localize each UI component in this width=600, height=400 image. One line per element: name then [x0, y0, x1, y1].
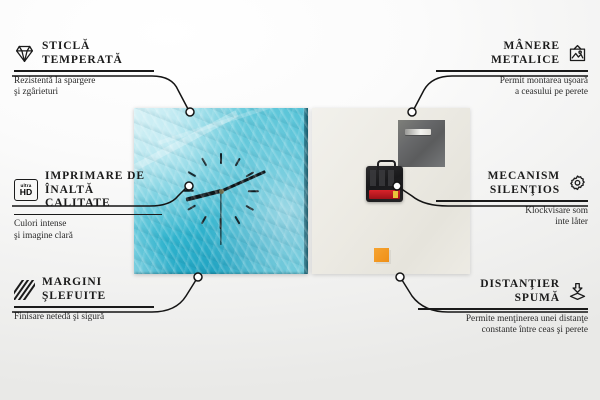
callout-title-line1: MARGINI — [42, 276, 106, 290]
callout-polished-edges: MARGINI ŞLEFUITE Finisare netedă şi sigu… — [14, 276, 154, 323]
callout-title: STICLĂ TEMPERATĂ — [42, 40, 123, 67]
glass-shadow — [134, 273, 308, 274]
diamond-icon — [14, 43, 35, 64]
callout-sub-line2: inte låter — [436, 217, 588, 228]
clock-hour-hand — [186, 189, 222, 202]
glass-highlight — [134, 110, 239, 173]
mechanism-hook — [377, 160, 396, 170]
callout-high-quality-print: ultra HD IMPRIMARE DE ÎNALTĂ CALITATE Cu… — [14, 170, 162, 242]
callout-sub-line1: Rezistentă la spargere — [14, 76, 154, 87]
callout-rule — [14, 70, 154, 72]
metal-hanger-plate — [398, 120, 445, 167]
callout-title: MARGINI ŞLEFUITE — [42, 276, 106, 303]
callout-subtitle: Rezistentă la spargere şi zgârieturi — [14, 76, 154, 99]
callout-rule — [436, 200, 588, 202]
hanger-slot — [405, 129, 431, 135]
clock-minute-hand — [220, 170, 265, 192]
callout-sub-line1: Finisare netedă şi sigură — [14, 312, 154, 323]
glass-highlight — [157, 108, 301, 145]
callout-title-line1: MÂNERE — [491, 40, 560, 54]
callout-sub-line1: Permite menţinerea unei distanţe — [418, 314, 588, 325]
callout-sub-line2: şi zgârieturi — [14, 87, 154, 98]
glass-edge — [304, 108, 308, 274]
callout-title: IMPRIMARE DE ÎNALTĂ CALITATE — [45, 170, 162, 211]
ultra-hd-large-label: HD — [20, 188, 32, 197]
diagonal-stripes-icon — [14, 280, 35, 300]
callout-title-line1: IMPRIMARE DE — [45, 170, 162, 184]
callout-header: MECANISM SILENŢIOS — [436, 170, 588, 197]
clock-center-cap — [219, 189, 224, 194]
callout-rule — [418, 308, 588, 310]
callout-title: DISTANŢIER SPUMĂ — [480, 278, 560, 305]
callout-metal-handles: MÂNERE METALICE Permit montarea uşoară a… — [436, 40, 588, 98]
callout-sub-line2: şi imagine clară — [14, 231, 162, 242]
callout-header: ultra HD IMPRIMARE DE ÎNALTĂ CALITATE — [14, 170, 162, 211]
callout-subtitle: Culori intense şi imagine clară — [14, 219, 162, 242]
callout-subtitle: Permit montarea uşoară a ceasului pe per… — [436, 76, 588, 99]
callout-title-line1: DISTANŢIER — [480, 278, 560, 292]
callout-rule — [14, 214, 162, 216]
callout-subtitle: Permite menţinerea unei distanţe constan… — [418, 314, 588, 337]
clock-mechanism — [366, 166, 403, 202]
callout-rule — [14, 306, 154, 308]
callout-sub-line1: Permit montarea uşoară — [436, 76, 588, 87]
callout-silent-mechanism: MECANISM SILENŢIOS Klockvisare som inte … — [436, 170, 588, 228]
callout-sub-line2: constante între ceas şi perete — [418, 325, 588, 336]
callout-tempered-glass: STICLĂ TEMPERATĂ Rezistentă la spargere … — [14, 40, 154, 98]
callout-title-line2: TEMPERATĂ — [42, 54, 123, 68]
callout-title-line2: ÎNALTĂ CALITATE — [45, 184, 162, 211]
clock-second-hand — [220, 191, 221, 245]
callout-title-line2: SPUMĂ — [480, 292, 560, 306]
callout-title: MECANISM SILENŢIOS — [488, 170, 560, 197]
callout-sub-line1: Klockvisare som — [436, 206, 588, 217]
callout-sub-line2: a ceasului pe perete — [436, 87, 588, 98]
callout-subtitle: Finisare netedă şi sigură — [14, 312, 154, 323]
picture-frame-hanger-icon — [567, 43, 588, 64]
aa-battery — [369, 190, 400, 199]
callout-subtitle: Klockvisare som inte låter — [436, 206, 588, 229]
callout-title-line2: ŞLEFUITE — [42, 290, 106, 304]
callout-header: DISTANŢIER SPUMĂ — [418, 278, 588, 305]
callout-title-line2: METALICE — [491, 54, 560, 68]
infographic-canvas: STICLĂ TEMPERATĂ Rezistentă la spargere … — [0, 0, 600, 400]
callout-header: STICLĂ TEMPERATĂ — [14, 40, 154, 67]
mechanism-face — [370, 170, 394, 186]
callout-title-line1: STICLĂ — [42, 40, 123, 54]
callout-title-line2: SILENŢIOS — [488, 184, 560, 198]
product-photo — [134, 108, 470, 274]
callout-header: MARGINI ŞLEFUITE — [14, 276, 154, 303]
ultra-hd-icon: ultra HD — [14, 179, 38, 201]
callout-foam-spacer: DISTANŢIER SPUMĂ Permite menţinerea unei… — [418, 278, 588, 336]
callout-title-line1: MECANISM — [488, 170, 560, 184]
press-down-pad-icon — [567, 281, 588, 302]
callout-sub-line1: Culori intense — [14, 219, 162, 230]
callout-title: MÂNERE METALICE — [491, 40, 560, 67]
callout-header: MÂNERE METALICE — [436, 40, 588, 67]
callout-rule — [436, 70, 588, 72]
gear-icon — [567, 173, 588, 194]
foam-spacer-pad — [374, 248, 389, 262]
